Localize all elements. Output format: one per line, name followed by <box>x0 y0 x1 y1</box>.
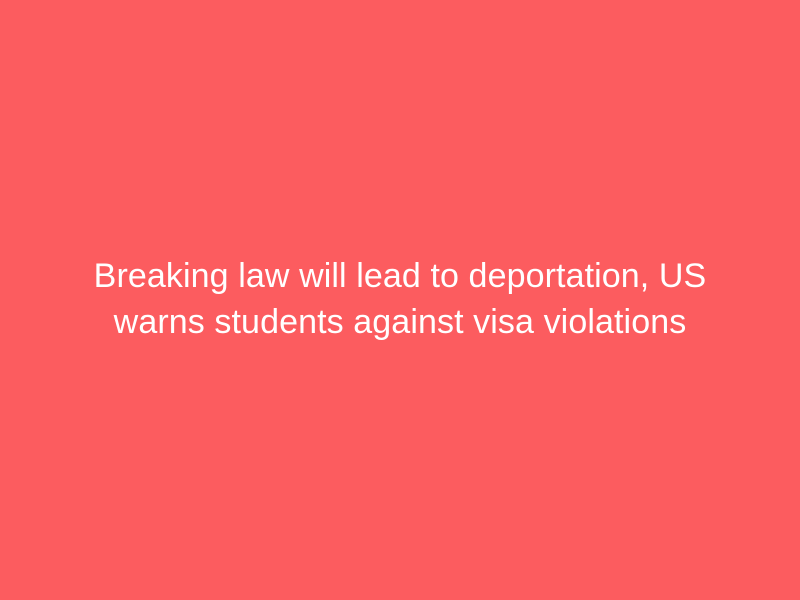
headline-card: Breaking law will lead to deportation, U… <box>0 0 800 600</box>
headline-block: Breaking law will lead to deportation, U… <box>30 253 770 345</box>
headline-title: Breaking law will lead to deportation, U… <box>50 253 750 345</box>
